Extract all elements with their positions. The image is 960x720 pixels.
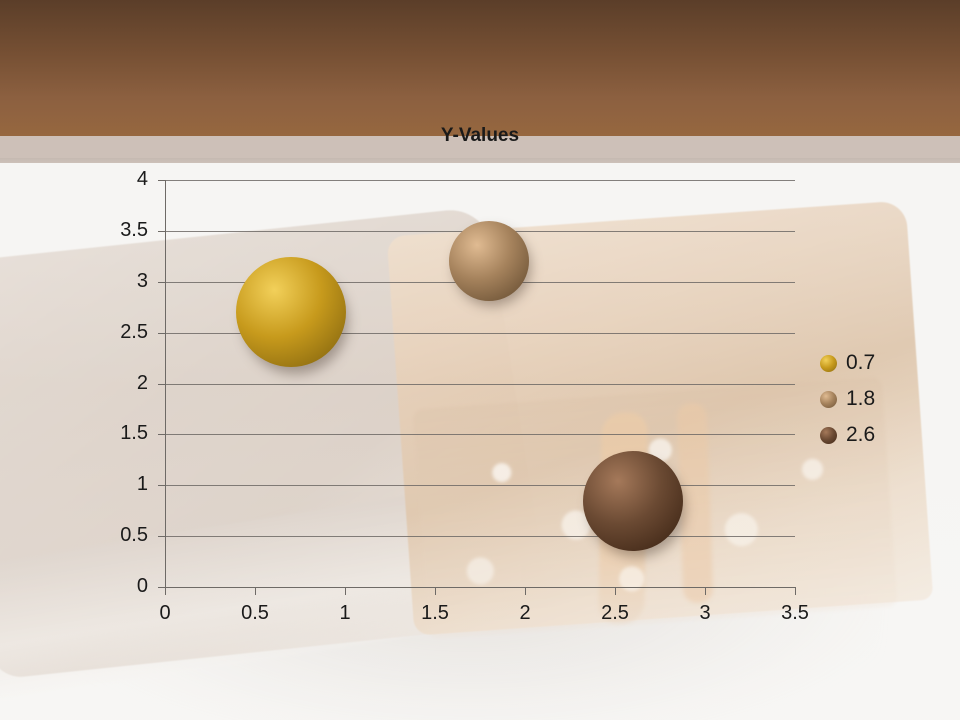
legend-marker-icon bbox=[820, 391, 837, 408]
y-axis-tick bbox=[158, 180, 165, 181]
y-axis-label: 4 bbox=[96, 169, 148, 189]
y-axis-tick bbox=[158, 587, 165, 588]
y-axis-tick bbox=[158, 485, 165, 486]
data-bubble-fill bbox=[449, 221, 529, 301]
chart-subtitle: Y-Values bbox=[0, 125, 960, 147]
x-axis-label: 0 bbox=[135, 602, 195, 624]
y-axis-label: 1.5 bbox=[96, 423, 148, 443]
legend-item[interactable]: 1.8 bbox=[820, 381, 875, 417]
x-axis-tick bbox=[435, 587, 436, 595]
x-axis-tick bbox=[525, 587, 526, 595]
y-axis-label: 2.5 bbox=[96, 322, 148, 342]
gridline-y bbox=[165, 536, 795, 537]
data-bubble-fill bbox=[583, 451, 683, 551]
x-axis-tick bbox=[345, 587, 346, 595]
data-bubble[interactable] bbox=[449, 221, 529, 301]
x-axis-label: 1 bbox=[315, 602, 375, 624]
legend-label: 2.6 bbox=[846, 423, 875, 447]
x-axis-label: 0.5 bbox=[225, 602, 285, 624]
y-axis-label: 2 bbox=[96, 373, 148, 393]
y-axis-tick bbox=[158, 333, 165, 334]
x-axis-label: 2 bbox=[495, 602, 555, 624]
y-axis-label: 3 bbox=[96, 271, 148, 291]
data-bubble[interactable] bbox=[236, 257, 346, 367]
y-axis-label: 1 bbox=[96, 474, 148, 494]
y-axis-label: 0 bbox=[96, 576, 148, 596]
x-axis-tick bbox=[165, 587, 166, 595]
y-axis-line bbox=[165, 180, 166, 588]
x-axis-line bbox=[165, 587, 796, 588]
gridline-y bbox=[165, 434, 795, 435]
legend-item[interactable]: 2.6 bbox=[820, 417, 875, 453]
data-bubble-fill bbox=[236, 257, 346, 367]
x-axis-label: 3.5 bbox=[765, 602, 825, 624]
legend-item[interactable]: 0.7 bbox=[820, 345, 875, 381]
chart-legend: 0.71.82.6 bbox=[820, 345, 875, 453]
header-band-shadow bbox=[0, 158, 960, 163]
y-axis-tick bbox=[158, 282, 165, 283]
y-axis-tick bbox=[158, 434, 165, 435]
x-axis-tick bbox=[795, 587, 796, 595]
x-axis-tick bbox=[705, 587, 706, 595]
x-axis-tick bbox=[255, 587, 256, 595]
gridline-y bbox=[165, 485, 795, 486]
legend-marker-icon bbox=[820, 355, 837, 372]
gridline-y bbox=[165, 180, 795, 181]
y-axis-label: 0.5 bbox=[96, 525, 148, 545]
y-axis-tick bbox=[158, 536, 165, 537]
x-axis-tick bbox=[615, 587, 616, 595]
x-axis-label: 2.5 bbox=[585, 602, 645, 624]
gridline-y bbox=[165, 384, 795, 385]
legend-marker-icon bbox=[820, 427, 837, 444]
y-axis-tick bbox=[158, 231, 165, 232]
data-bubble[interactable] bbox=[583, 451, 683, 551]
y-axis-tick bbox=[158, 384, 165, 385]
legend-label: 1.8 bbox=[846, 387, 875, 411]
y-axis-label: 3.5 bbox=[96, 220, 148, 240]
x-axis-label: 3 bbox=[675, 602, 735, 624]
x-axis-label: 1.5 bbox=[405, 602, 465, 624]
legend-label: 0.7 bbox=[846, 351, 875, 375]
header-banner bbox=[0, 0, 960, 136]
